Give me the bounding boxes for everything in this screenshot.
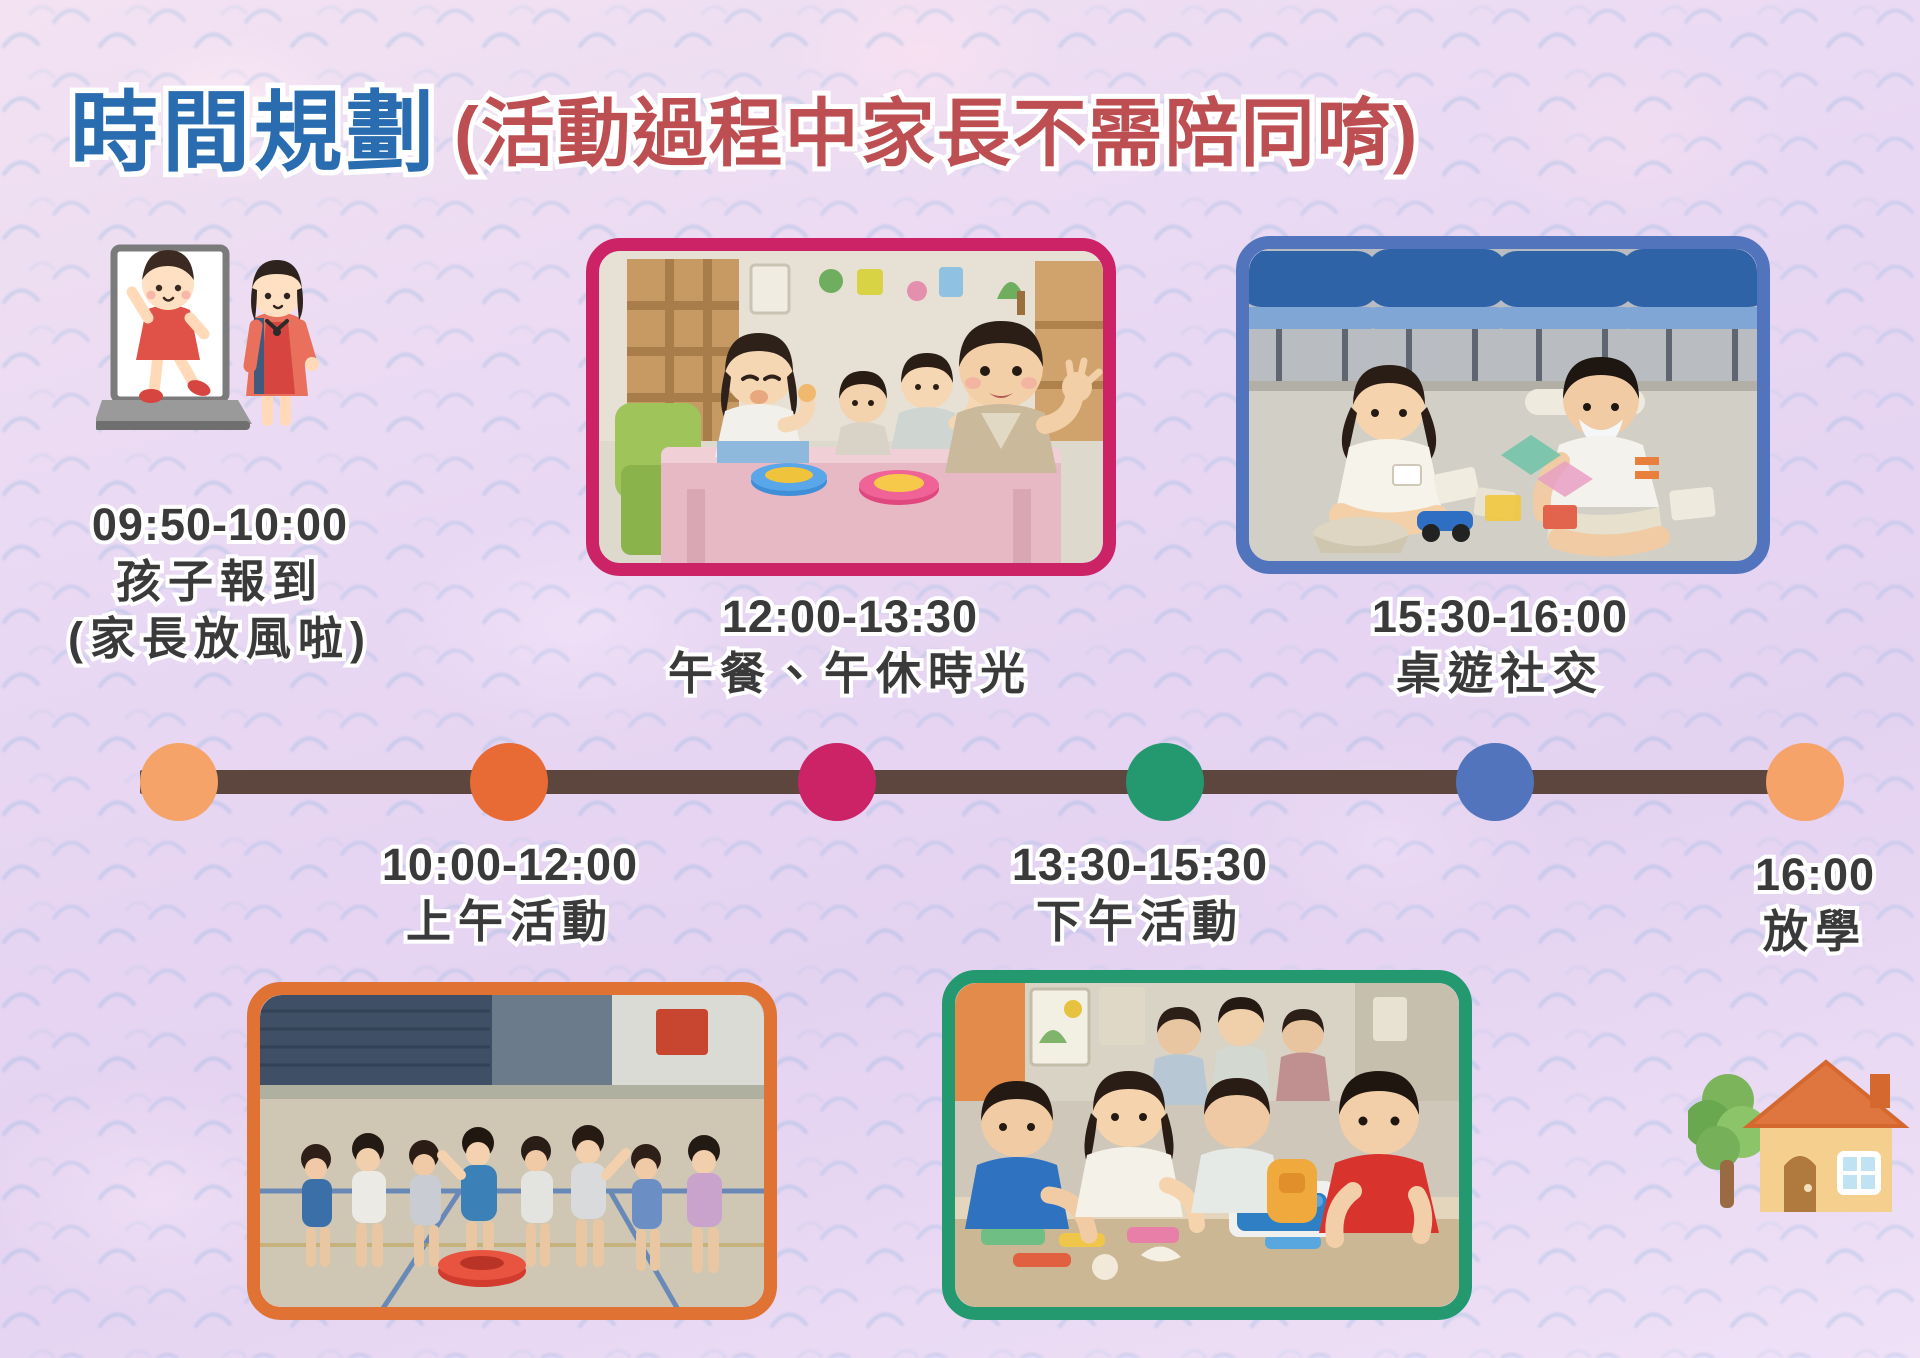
- label-text-afternoon-line1: 下午活動: [930, 893, 1350, 951]
- label-time-arrival: 09:50-10:00: [30, 498, 410, 553]
- label-time-boardgame: 15:30-16:00: [1240, 590, 1760, 645]
- timeline-dot-boardgame[interactable]: [1456, 743, 1534, 821]
- label-block-morning: 10:00-12:00 上午活動: [300, 838, 720, 950]
- label-time-lunch: 12:00-13:30: [570, 590, 1130, 645]
- label-block-boardgame: 15:30-16:00 桌遊社交: [1240, 590, 1760, 702]
- title-main-text: 時間規劃: [70, 62, 438, 189]
- label-text-arrival-line2: (家長放風啦): [30, 610, 410, 668]
- label-block-dismissal: 16:00 放學: [1660, 848, 1920, 960]
- timeline-dot-arrival[interactable]: [140, 743, 218, 821]
- label-time-morning: 10:00-12:00: [300, 838, 720, 893]
- timeline-track: [140, 770, 1800, 794]
- photo-floor-games: [1236, 236, 1770, 574]
- label-block-lunch: 12:00-13:30 午餐、午休時光: [570, 590, 1130, 702]
- label-text-arrival-line1: 孩子報到: [30, 553, 410, 611]
- label-text-morning-line1: 上午活動: [300, 893, 720, 951]
- timeline-dot-dismissal[interactable]: [1766, 743, 1844, 821]
- timeline-dot-lunch[interactable]: [798, 743, 876, 821]
- illustration-house: [1688, 1028, 1920, 1258]
- page-title: 時間規劃 (活動過程中家長不需陪同唷): [70, 62, 1419, 189]
- label-text-dismissal-line1: 放學: [1660, 903, 1920, 961]
- timeline-dot-morning[interactable]: [470, 743, 548, 821]
- illustration-kid-entrance: [96, 238, 336, 468]
- label-block-afternoon: 13:30-15:30 下午活動: [930, 838, 1350, 950]
- photo-craft-table: [942, 970, 1472, 1320]
- photo-gym-play: [247, 982, 777, 1320]
- label-time-afternoon: 13:30-15:30: [930, 838, 1350, 893]
- timeline-dot-afternoon[interactable]: [1126, 743, 1204, 821]
- label-time-dismissal: 16:00: [1660, 848, 1920, 903]
- label-text-boardgame-line1: 桌遊社交: [1240, 645, 1760, 703]
- title-subtitle-text: (活動過程中家長不需陪同唷): [454, 74, 1419, 181]
- label-text-lunch-line1: 午餐、午休時光: [570, 645, 1130, 703]
- label-block-arrival: 09:50-10:00 孩子報到 (家長放風啦): [30, 498, 410, 668]
- photo-lunch-table: [586, 238, 1116, 576]
- poster-canvas: 時間規劃 (活動過程中家長不需陪同唷): [0, 0, 1920, 1358]
